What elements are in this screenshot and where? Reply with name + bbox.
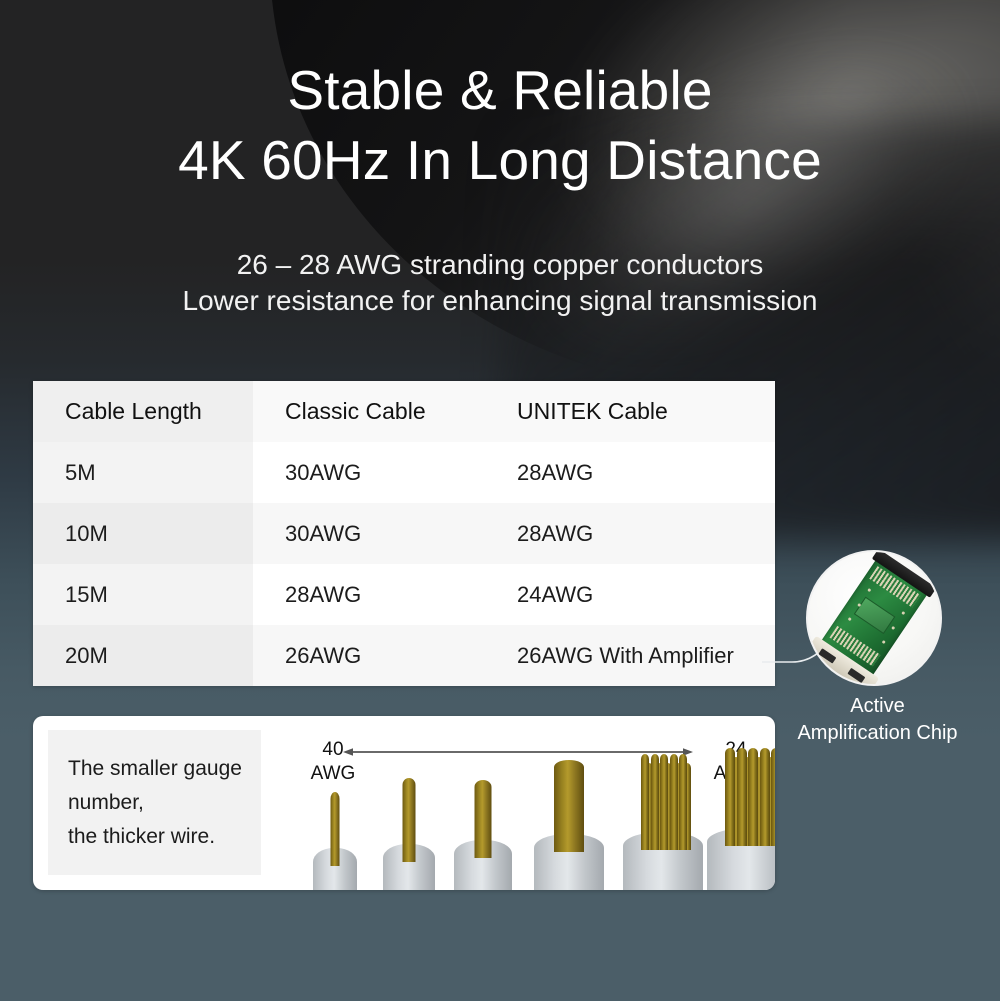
- table-header-cell-length: Cable Length: [33, 381, 253, 442]
- cell-classic-cable: 26AWG: [253, 625, 485, 686]
- table-row: 10M 30AWG 28AWG: [33, 503, 775, 564]
- cell-classic-cable: 30AWG: [253, 503, 485, 564]
- wire-copper-core: [554, 760, 584, 852]
- wire-strand: [670, 754, 678, 850]
- cell-unitek-cable: 26AWG With Amplifier: [485, 625, 775, 686]
- table-row: 15M 28AWG 24AWG: [33, 564, 775, 625]
- wire-37-awg: [383, 784, 435, 890]
- wire-gauge-note: The smaller gauge number, the thicker wi…: [48, 730, 261, 875]
- cell-unitek-cable: 28AWG: [485, 503, 775, 564]
- wire-strand: [760, 748, 770, 846]
- wire-stranded-core: [725, 748, 775, 846]
- wire-note-line-3: the thicker wire.: [68, 820, 261, 854]
- table-row: 20M 26AWG 26AWG With Amplifier: [33, 625, 775, 686]
- wire-copper-core: [475, 780, 492, 858]
- pcb-illustration: [817, 554, 931, 682]
- wire-30-awg: [534, 784, 604, 890]
- cell-classic-cable: 30AWG: [253, 442, 485, 503]
- subtitle-line-2: Lower resistance for enhancing signal tr…: [0, 283, 1000, 319]
- wire-strand: [660, 754, 668, 850]
- wire-gauge-panel: The smaller gauge number, the thicker wi…: [33, 716, 775, 890]
- cell-unitek-cable: 24AWG: [485, 564, 775, 625]
- cell-cable-length: 10M: [33, 503, 253, 564]
- wire-strand: [725, 748, 735, 846]
- callout-label-line-2: Amplification Chip: [770, 720, 985, 747]
- wire-strand: [641, 754, 649, 850]
- wire-note-line-2: number,: [68, 786, 261, 820]
- cable-spec-table: Cable Length Classic Cable UNITEK Cable …: [33, 381, 775, 686]
- page-title: Stable & Reliable 4K 60Hz In Long Distan…: [0, 0, 1000, 195]
- table-row: 5M 30AWG 28AWG: [33, 442, 775, 503]
- wire-24-awg: [707, 784, 775, 890]
- wire-stranded-core: [641, 754, 685, 850]
- table-header-row: Cable Length Classic Cable UNITEK Cable: [33, 381, 775, 442]
- circuit-board-chip-icon: [806, 550, 942, 686]
- wire-copper-core: [403, 778, 416, 862]
- page-subtitle: 26 – 28 AWG stranding copper conductors …: [0, 247, 1000, 319]
- table-header-cell-classic: Classic Cable: [253, 381, 485, 442]
- headline-line-1: Stable & Reliable: [287, 59, 712, 121]
- gauge-left-unit: AWG: [303, 762, 363, 786]
- cell-cable-length: 15M: [33, 564, 253, 625]
- headline-line-2: 4K 60Hz In Long Distance: [0, 125, 1000, 195]
- cell-unitek-cable: 28AWG: [485, 442, 775, 503]
- callout-label-line-1: Active: [770, 693, 985, 720]
- wire-40-awg: [313, 784, 357, 890]
- table-header-cell-unitek: UNITEK Cable: [485, 381, 775, 442]
- subtitle-line-1: 26 – 28 AWG stranding copper conductors: [0, 247, 1000, 283]
- wire-strand: [737, 748, 747, 846]
- cell-classic-cable: 28AWG: [253, 564, 485, 625]
- cell-cable-length: 20M: [33, 625, 253, 686]
- header-section: Stable & Reliable 4K 60Hz In Long Distan…: [0, 0, 1000, 319]
- callout-label: Active Amplification Chip: [770, 693, 985, 747]
- wire-strand: [651, 754, 659, 850]
- wire-34-awg: [454, 784, 512, 890]
- wire-strand: [679, 754, 687, 850]
- wire-note-line-1: The smaller gauge: [68, 752, 261, 786]
- wire-gauge-illustration: [273, 784, 773, 890]
- wire-copper-core: [331, 792, 340, 866]
- wire-26-awg: [623, 784, 703, 890]
- wire-strand: [748, 748, 758, 846]
- cell-cable-length: 5M: [33, 442, 253, 503]
- wire-strand: [771, 748, 775, 846]
